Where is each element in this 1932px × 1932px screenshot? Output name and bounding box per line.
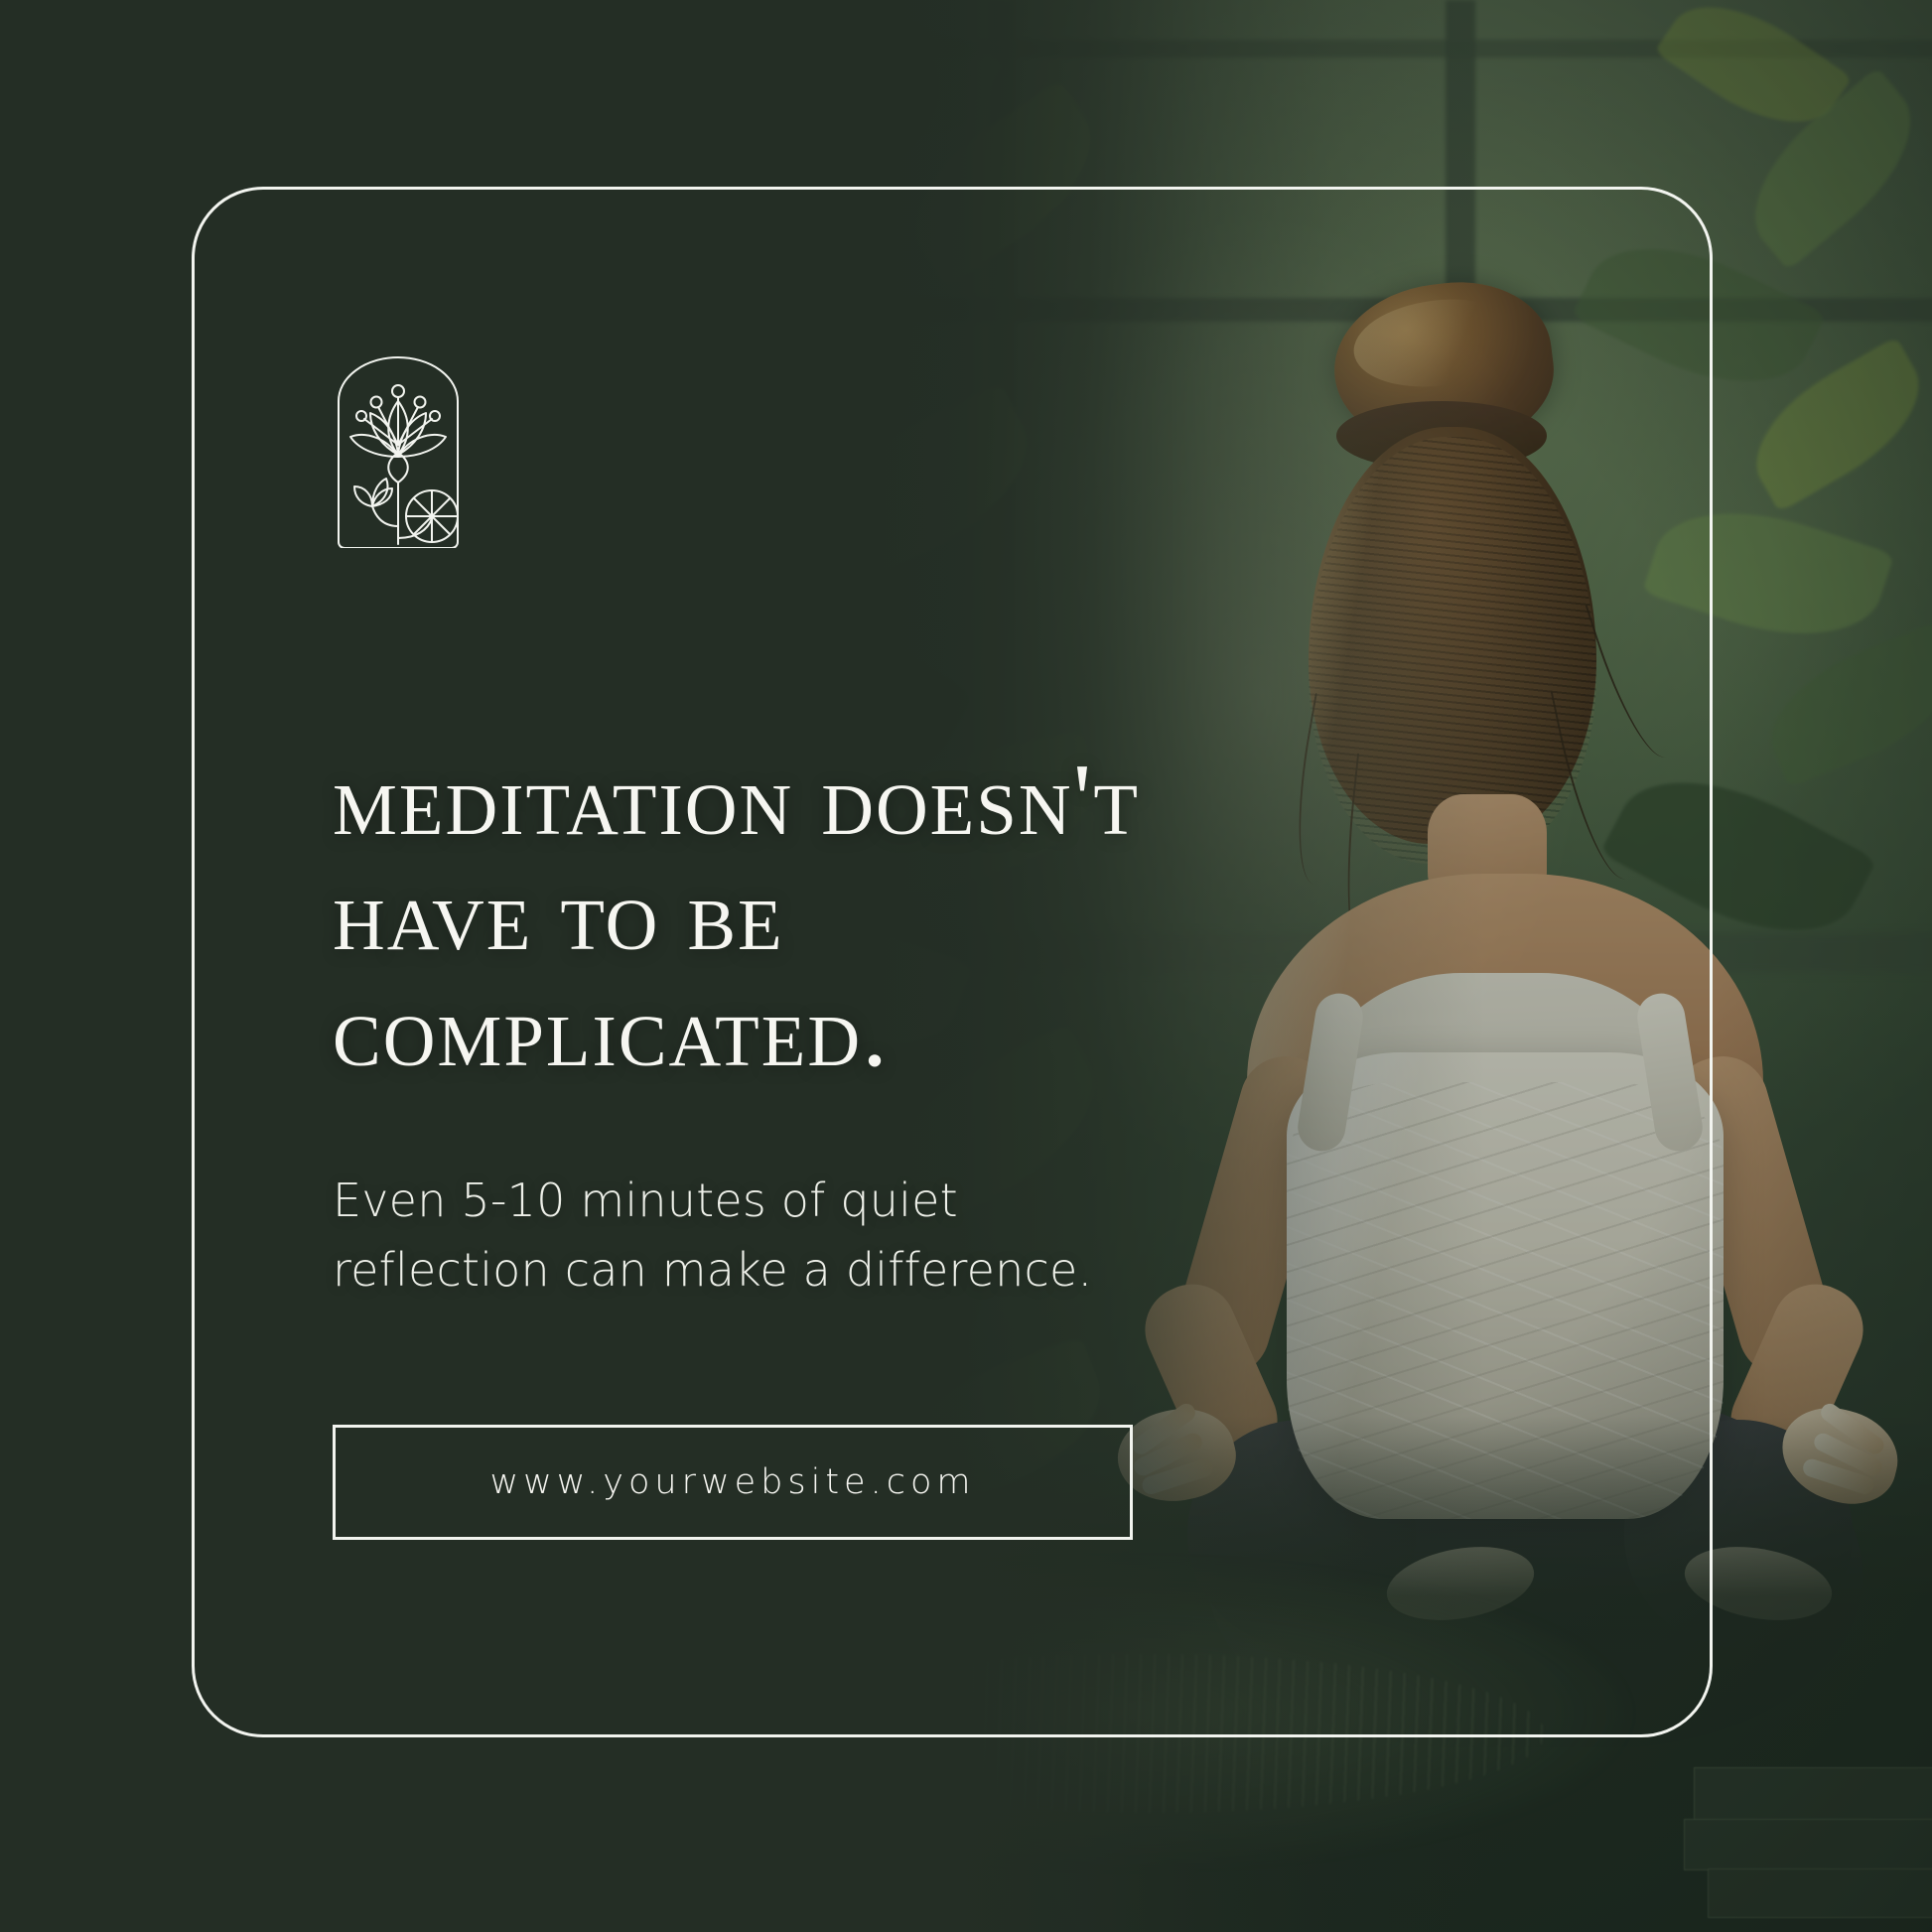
headline-line-3: complicated. — [333, 974, 1186, 1089]
page-title: Meditation doesn't have to be complicate… — [333, 743, 1186, 1089]
headline-line-2: have to be — [333, 858, 1186, 973]
book — [1708, 1868, 1932, 1918]
website-label: www.yourwebsite.com — [490, 1462, 976, 1502]
mat-texture — [751, 1654, 1545, 1813]
subheadline-line-2: reflection can make a difference. — [333, 1236, 1186, 1306]
book — [1684, 1819, 1932, 1870]
subheadline: Even 5-10 minutes of quiet reflection ca… — [333, 1167, 1186, 1306]
subheadline-line-1: Even 5-10 minutes of quiet — [333, 1167, 1186, 1236]
book — [1694, 1767, 1932, 1821]
content-column: Meditation doesn't have to be complicate… — [333, 349, 1186, 1540]
social-media-poster: Meditation doesn't have to be complicate… — [0, 0, 1932, 1932]
lotus-flower-arch-icon — [333, 349, 464, 548]
headline-line-1: Meditation doesn't — [333, 743, 1186, 858]
website-button[interactable]: www.yourwebsite.com — [333, 1425, 1133, 1540]
